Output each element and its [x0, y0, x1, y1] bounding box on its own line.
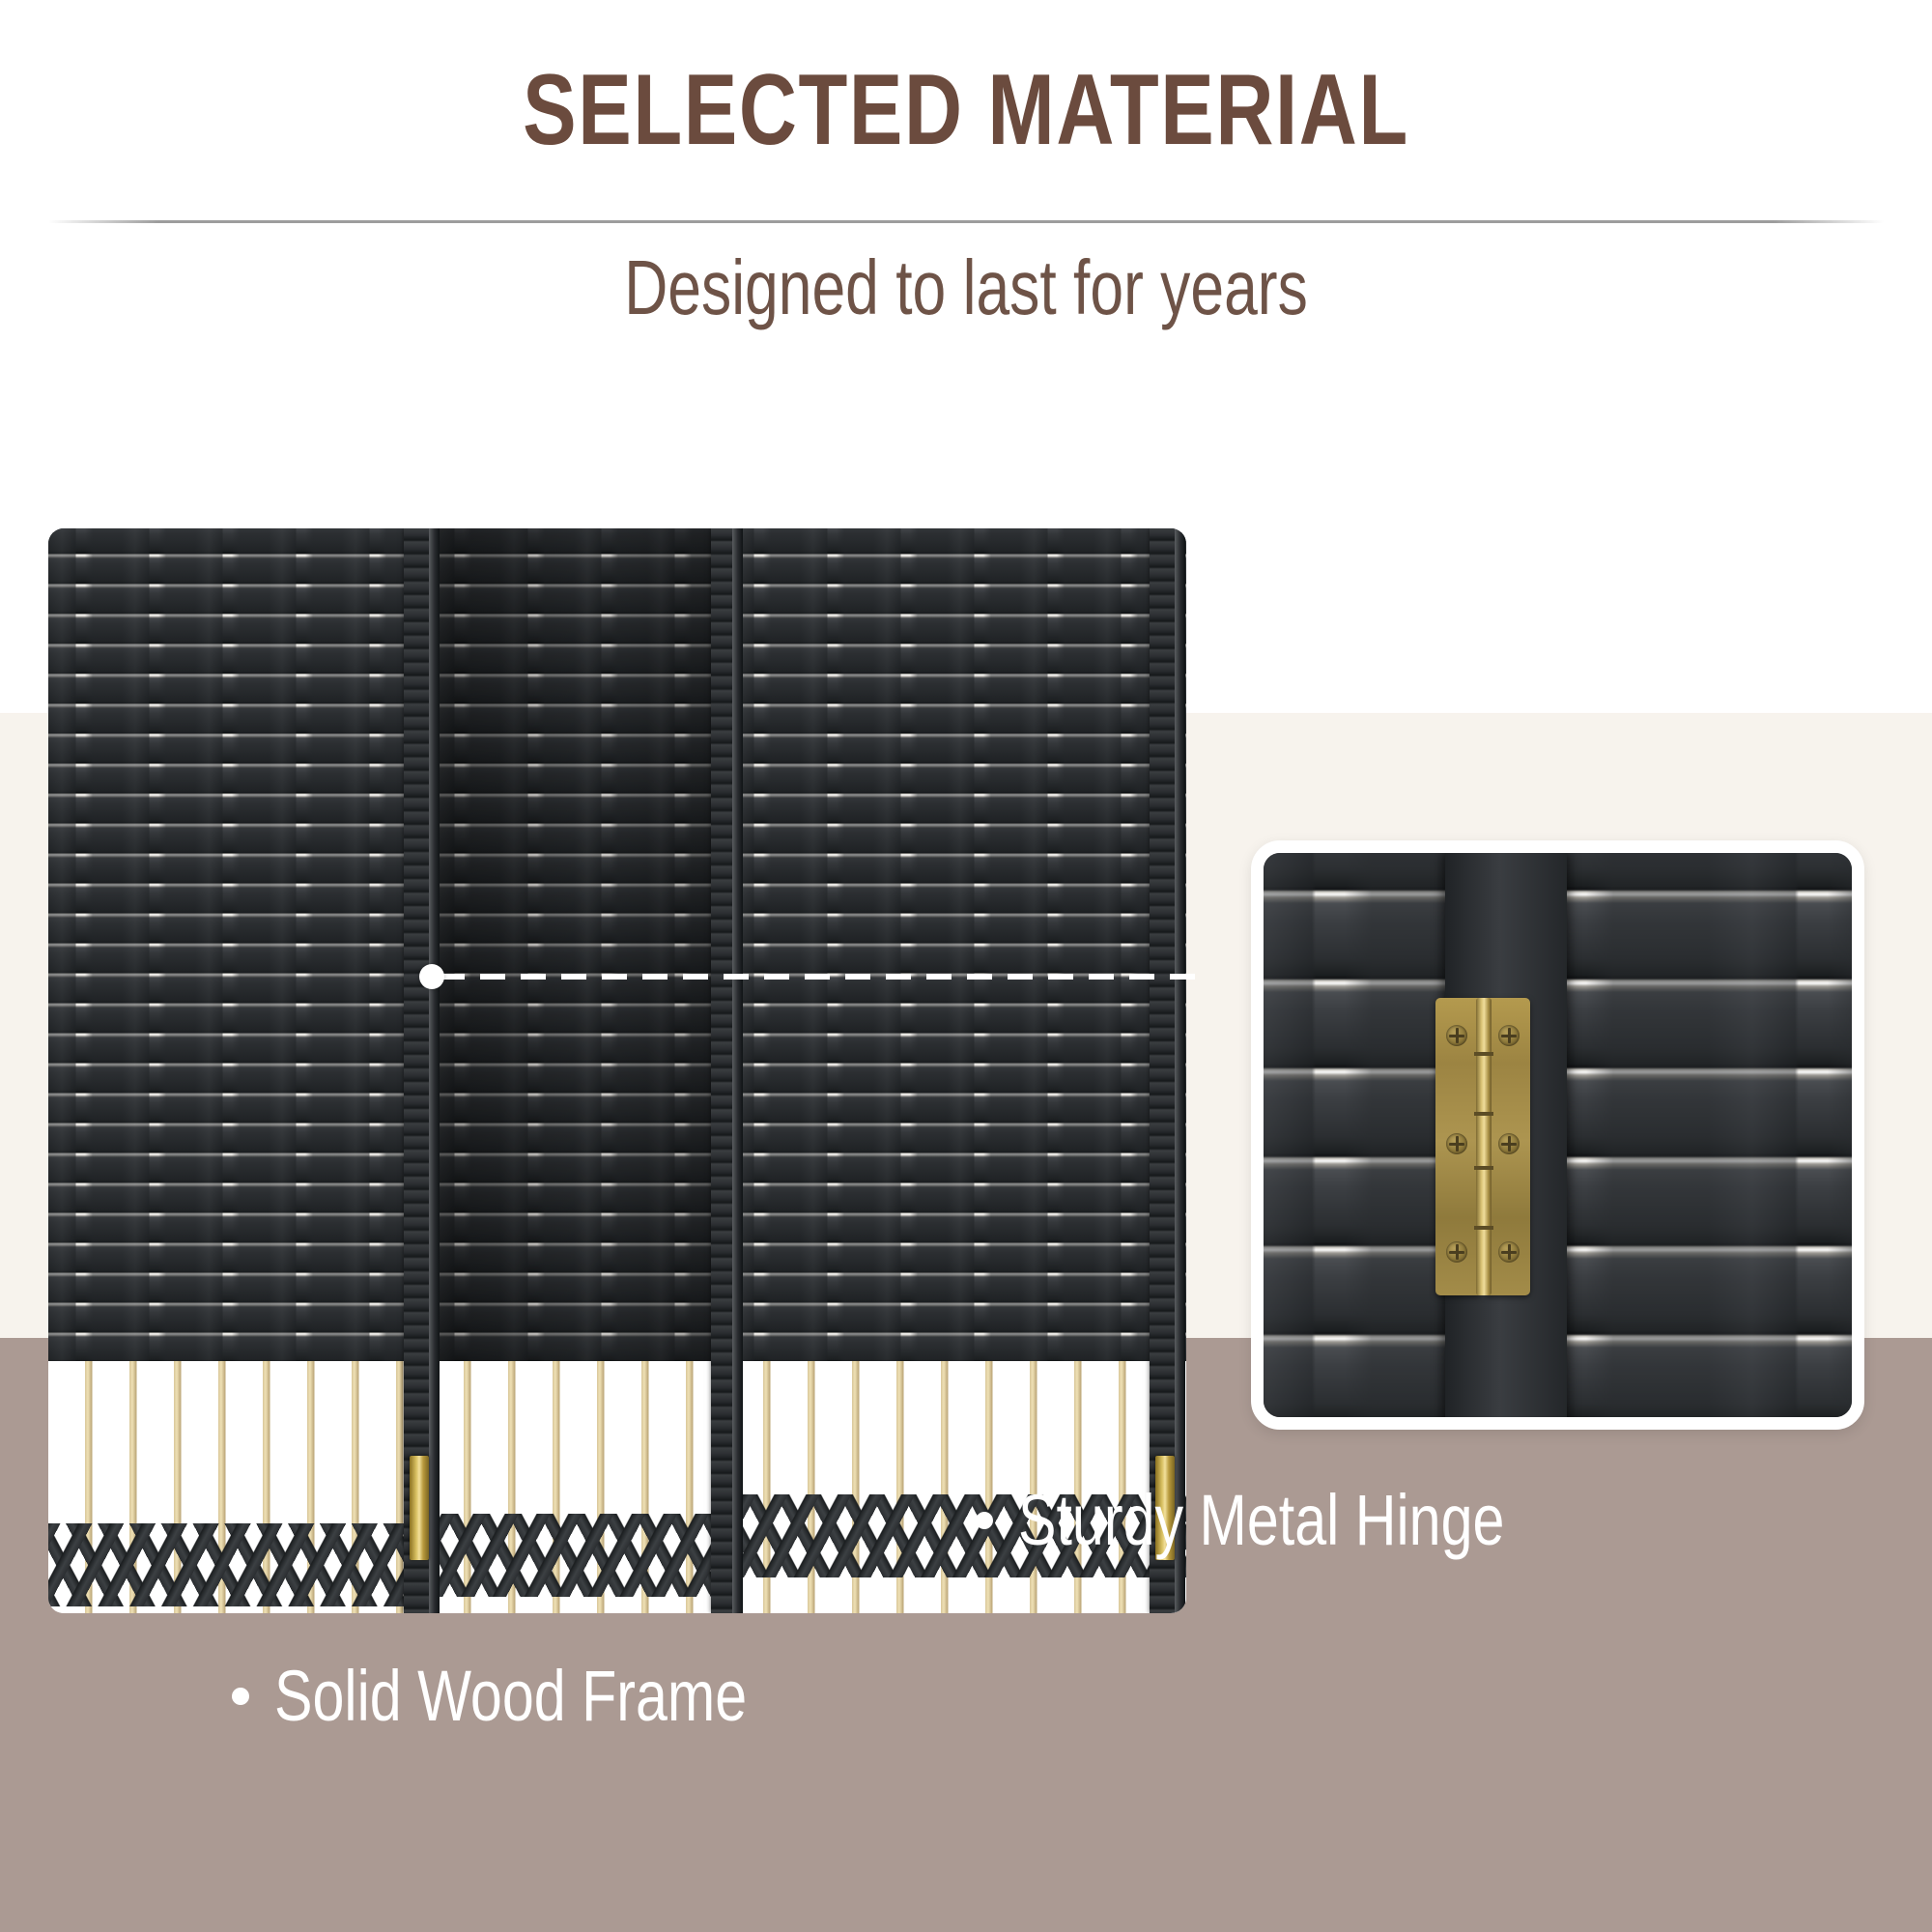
screw-icon [1498, 1133, 1520, 1154]
divider-panel-left [48, 528, 427, 1613]
frame-stile-edge-left [429, 528, 440, 1613]
hinge-knuckle-seam [1474, 1226, 1493, 1230]
divider-panel-right [726, 528, 1186, 1613]
woven-rattan-texture [726, 528, 1186, 1361]
callout-sturdy-metal-hinge: Sturdy Metal Hinge [976, 1481, 1626, 1560]
divider-panel-middle [427, 528, 726, 1613]
frame-stile-edge-right [1175, 528, 1185, 1613]
hinge-knuckle [1476, 998, 1492, 1295]
frame-stile-edge-middle [732, 528, 743, 1613]
callout-label: Solid Wood Frame [274, 1657, 747, 1736]
screw-icon [1498, 1241, 1520, 1263]
brass-hinge-icon [1435, 998, 1530, 1295]
frame-stile-left [404, 528, 429, 1613]
bullet-icon [232, 1688, 249, 1705]
header-divider [48, 220, 1884, 223]
screw-icon [1446, 1241, 1467, 1263]
dashed-leader-line [440, 974, 1203, 980]
hinge-knuckle-seam [1474, 1112, 1493, 1116]
callout-label: Sturdy Metal Hinge [1018, 1481, 1504, 1560]
page-title: SELECTED MATERIAL [193, 56, 1739, 164]
hinge-knuckle-seam [1474, 1052, 1493, 1056]
screw-icon [1498, 1025, 1520, 1046]
panel-shading [427, 528, 726, 1361]
bullet-icon [976, 1512, 993, 1529]
hinge-icon-left [410, 1456, 429, 1560]
hinge-closeup-inset [1251, 840, 1864, 1430]
hinge-knuckle-seam [1474, 1166, 1493, 1170]
lattice-band [427, 1514, 726, 1597]
lattice-band [48, 1523, 427, 1606]
marketing-infographic: SELECTED MATERIAL Designed to last for y… [0, 0, 1932, 1932]
frame-stile-right [1150, 528, 1175, 1613]
leader-dot-marker [419, 964, 444, 989]
screw-icon [1446, 1133, 1467, 1154]
callout-solid-wood-frame: Solid Wood Frame [232, 1657, 865, 1736]
screw-icon [1446, 1025, 1467, 1046]
woven-rattan-texture [48, 528, 427, 1361]
product-photo [48, 528, 1186, 1613]
page-subtitle: Designed to last for years [213, 243, 1719, 332]
frame-stile-middle [711, 528, 732, 1613]
